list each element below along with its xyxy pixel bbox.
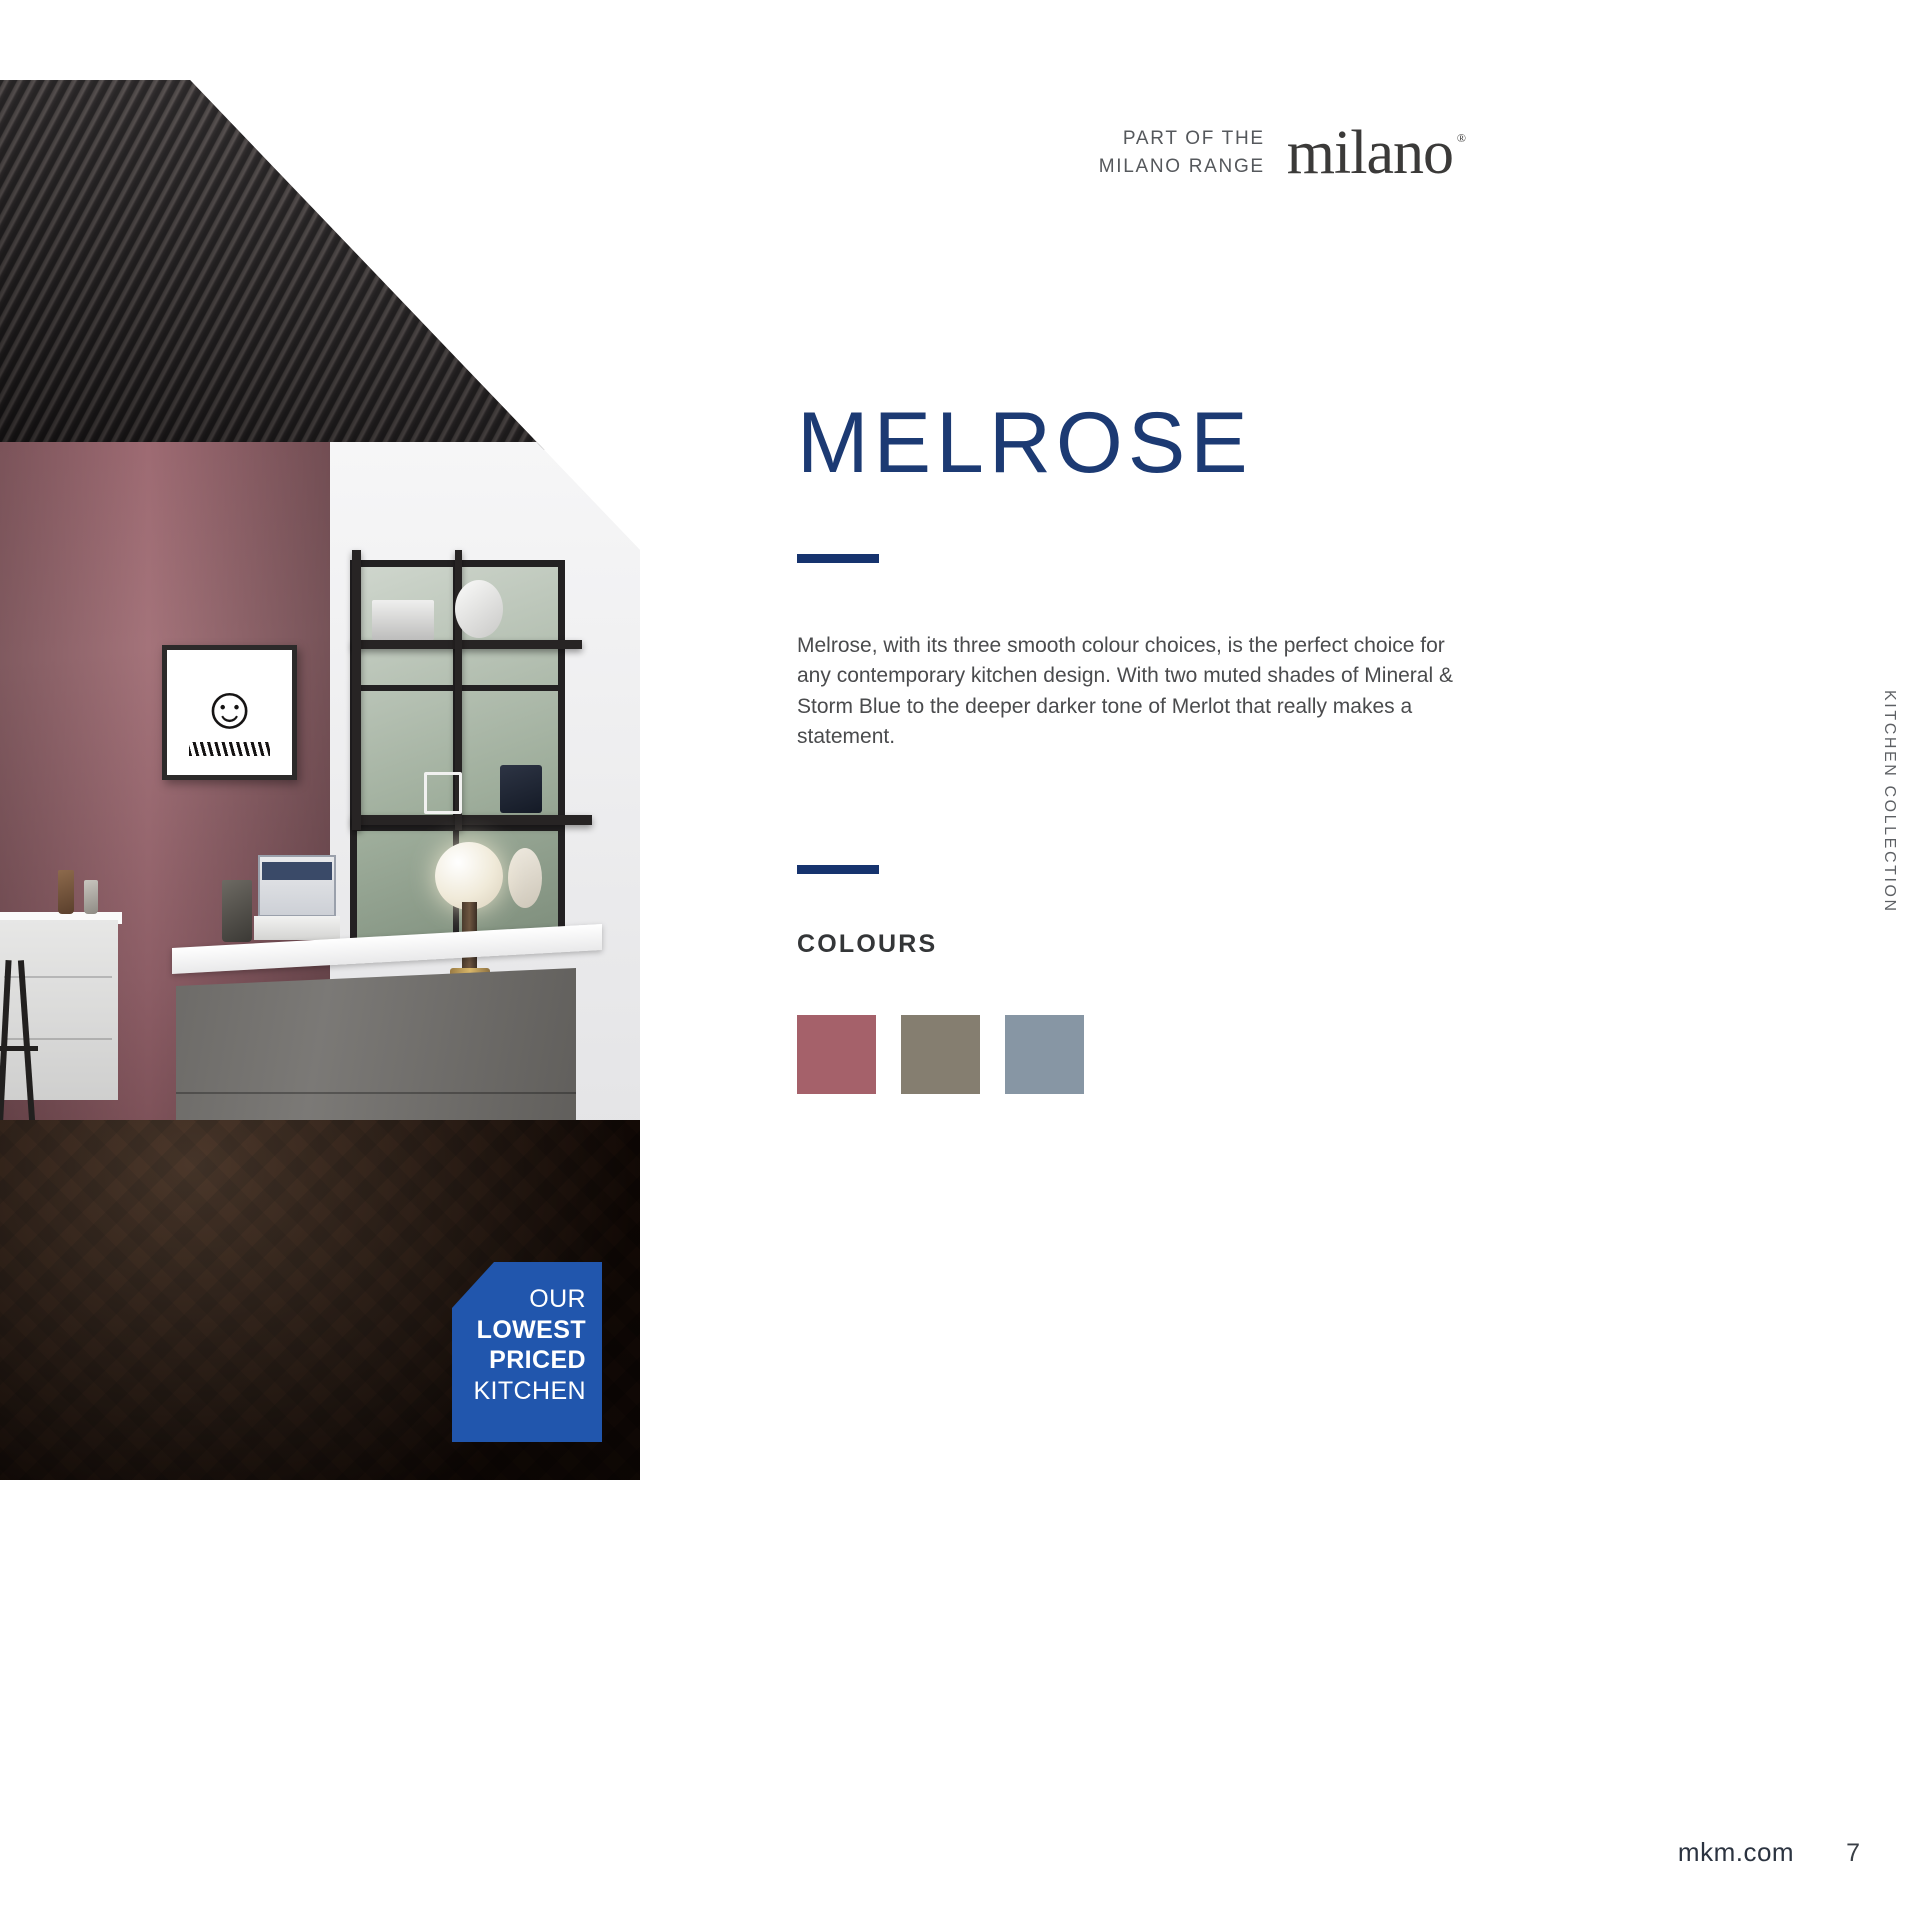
title-rule (797, 554, 879, 563)
shelf-upright (352, 550, 361, 830)
recipe-book-band (262, 862, 332, 880)
globe-lamp (435, 842, 503, 910)
slatted-ceiling (0, 80, 640, 450)
page-title: MELROSE (797, 400, 1457, 486)
website-url[interactable]: mkm.com (1678, 1837, 1794, 1868)
milano-range-lockup: PART OF THE MILANO RANGE milano® (1099, 122, 1465, 184)
colour-swatch-mineral[interactable] (901, 1015, 980, 1094)
counter-bottle (58, 870, 74, 914)
badge-line-lowest: LOWEST (452, 1315, 586, 1346)
page-footer: mkm.com 7 (1678, 1837, 1860, 1868)
badge-line-our: OUR (452, 1284, 586, 1315)
decorative-plate (455, 580, 503, 638)
colours-heading: COLOURS (797, 930, 1457, 959)
shelf-lower (352, 815, 592, 825)
kitchen-collection-side-label: KITCHEN COLLECTION (1880, 690, 1898, 914)
glass-box (424, 772, 462, 814)
artwork-squiggle (189, 742, 270, 756)
shelf-upper (352, 640, 582, 649)
badge-line-kitchen: KITCHEN (452, 1376, 586, 1407)
lamp-reflector (508, 848, 542, 908)
range-description: Melrose, with its three smooth colour ch… (797, 631, 1457, 753)
colours-rule (797, 865, 879, 874)
artwork-canvas: ☺ (176, 659, 283, 766)
badge-line-priced: PRICED (452, 1345, 586, 1376)
canister (222, 880, 252, 942)
page-number: 7 (1846, 1839, 1860, 1868)
colour-swatch-merlot[interactable] (797, 1015, 876, 1094)
range-kicker: PART OF THE MILANO RANGE (1099, 125, 1265, 180)
lowest-priced-badge: OUR LOWEST PRICED KITCHEN (452, 1262, 602, 1442)
abstract-face-icon: ☺ (199, 678, 260, 738)
colour-swatch-storm-blue[interactable] (1005, 1015, 1084, 1094)
milano-logo: milano® (1287, 122, 1465, 184)
kicker-line-1: PART OF THE (1099, 125, 1265, 153)
registered-trademark-icon: ® (1457, 132, 1465, 144)
colour-swatch-list (797, 1015, 1457, 1094)
stool-rung (0, 1046, 38, 1051)
kicker-line-2: MILANO RANGE (1099, 153, 1265, 181)
range-detail-panel: MELROSE Melrose, with its three smooth c… (797, 400, 1457, 1094)
navy-pot (500, 765, 542, 813)
framed-artwork: ☺ (162, 645, 297, 780)
book-stack (254, 916, 340, 940)
milano-wordmark: milano (1287, 119, 1453, 187)
counter-jar (84, 880, 98, 914)
stacked-bowls (372, 600, 434, 640)
